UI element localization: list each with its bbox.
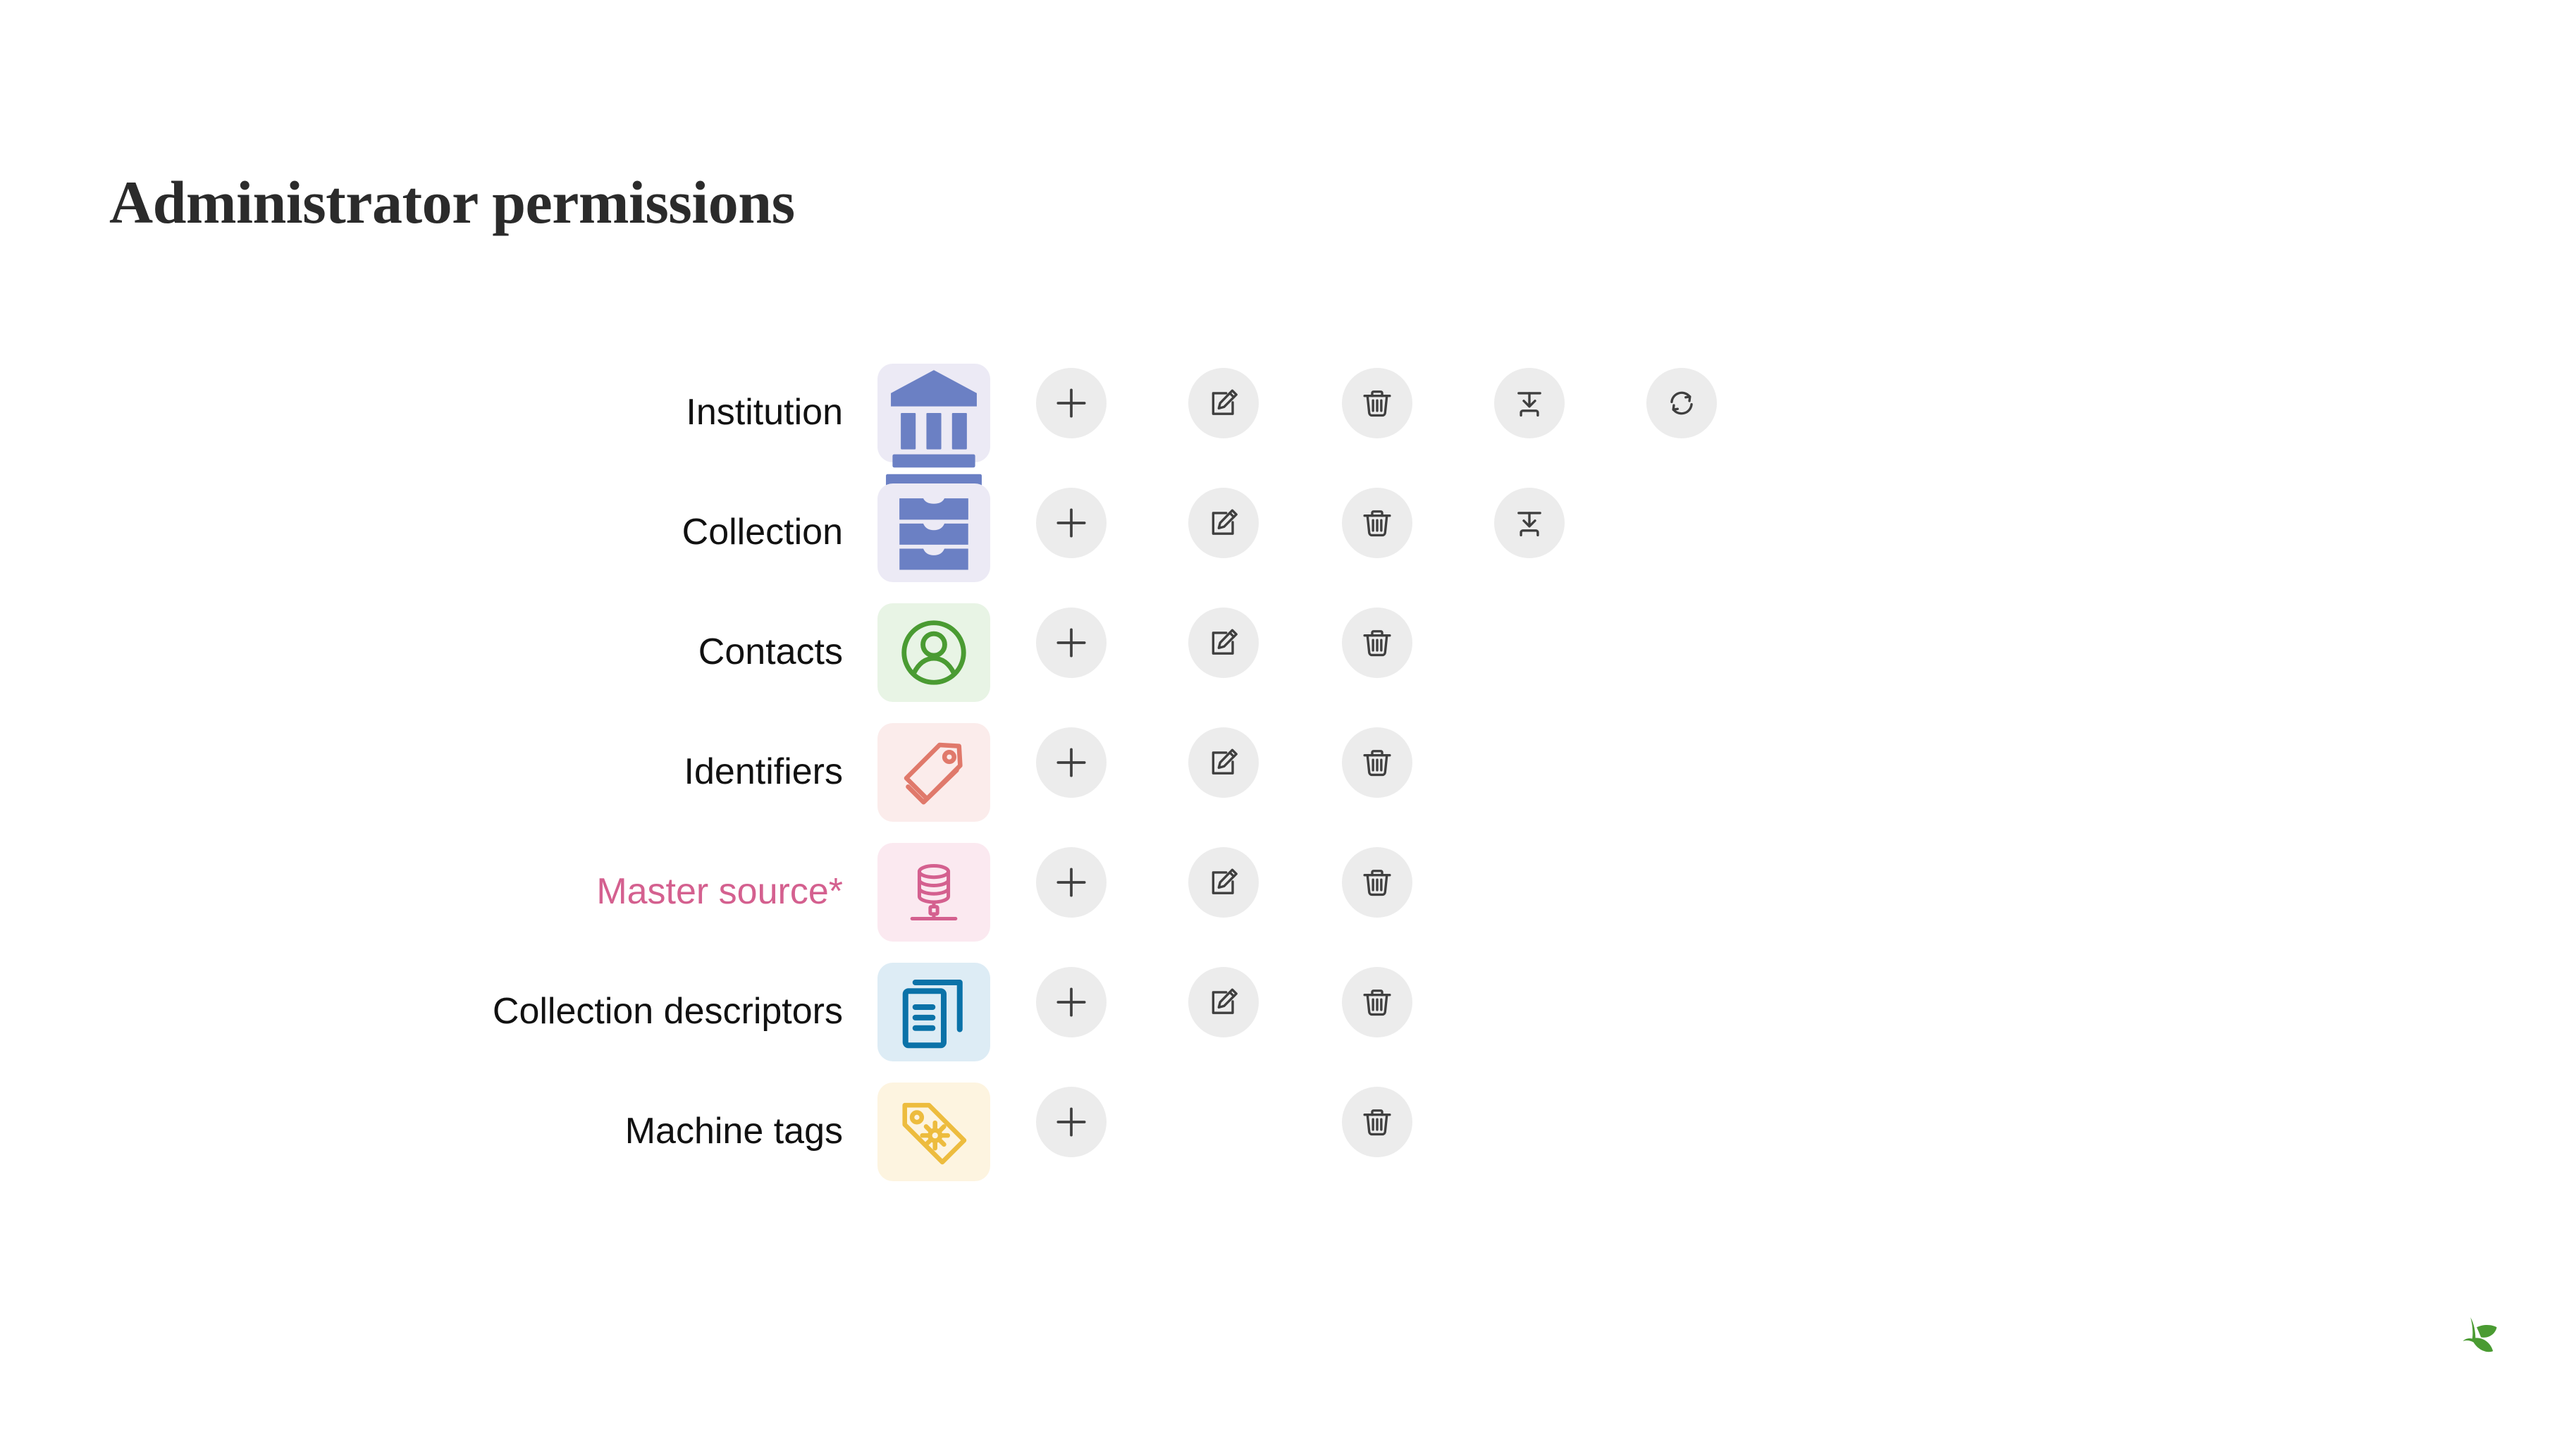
permission-row: Collection descriptors: [0, 951, 2576, 1071]
row-label: Identifiers: [684, 712, 843, 832]
page-title: Administrator permissions: [109, 172, 795, 233]
edit-button[interactable]: [1188, 967, 1259, 1037]
sync-icon: [1663, 385, 1700, 421]
import-icon: [1511, 505, 1548, 541]
add-button[interactable]: [1036, 967, 1107, 1037]
plus-icon: [1052, 623, 1091, 662]
delete-button[interactable]: [1342, 967, 1412, 1037]
contact-person-icon: [877, 603, 990, 702]
edit-button[interactable]: [1188, 847, 1259, 918]
add-button[interactable]: [1036, 368, 1107, 438]
edit-icon: [1205, 744, 1242, 781]
delete-button[interactable]: [1342, 608, 1412, 678]
gbif-leaf-logo: [2451, 1312, 2515, 1369]
permission-row: Master source*: [0, 832, 2576, 951]
trash-icon: [1359, 984, 1395, 1021]
permission-row: Machine tags: [0, 1071, 2576, 1191]
edit-icon: [1205, 385, 1242, 421]
documents-icon: [877, 963, 990, 1061]
plus-icon: [1052, 503, 1091, 543]
edit-button[interactable]: [1188, 368, 1259, 438]
permission-row: Contacts: [0, 592, 2576, 712]
edit-icon: [1205, 864, 1242, 901]
import-icon: [1511, 385, 1548, 421]
delete-button[interactable]: [1342, 368, 1412, 438]
trash-icon: [1359, 1104, 1395, 1140]
row-label: Master source*: [596, 832, 843, 951]
trash-icon: [1359, 505, 1395, 541]
edit-icon: [1205, 984, 1242, 1021]
trash-icon: [1359, 385, 1395, 421]
plus-icon: [1052, 743, 1091, 782]
edit-button[interactable]: [1188, 608, 1259, 678]
plus-icon: [1052, 863, 1091, 902]
plus-icon: [1052, 1102, 1091, 1142]
row-label: Collection: [682, 472, 843, 592]
permission-row: Institution: [0, 352, 2576, 472]
row-label: Collection descriptors: [493, 951, 843, 1071]
row-label: Machine tags: [625, 1071, 843, 1191]
edit-button[interactable]: [1188, 727, 1259, 798]
add-button[interactable]: [1036, 1087, 1107, 1157]
delete-button[interactable]: [1342, 488, 1412, 558]
add-button[interactable]: [1036, 847, 1107, 918]
add-button[interactable]: [1036, 488, 1107, 558]
add-button[interactable]: [1036, 608, 1107, 678]
plus-icon: [1052, 383, 1091, 423]
delete-button[interactable]: [1342, 1087, 1412, 1157]
sync-button[interactable]: [1646, 368, 1717, 438]
permission-row: Identifiers: [0, 712, 2576, 832]
institution-icon: [877, 364, 990, 462]
edit-icon: [1205, 505, 1242, 541]
trash-icon: [1359, 744, 1395, 781]
plus-icon: [1052, 982, 1091, 1022]
trash-icon: [1359, 624, 1395, 661]
edit-icon: [1205, 624, 1242, 661]
import-button[interactable]: [1494, 368, 1565, 438]
permissions-grid: InstitutionCollectionContactsIdentifiers…: [0, 352, 2576, 1191]
tag-icon: [877, 723, 990, 822]
collection-drawers-icon: [877, 483, 990, 582]
row-label: Contacts: [698, 592, 843, 712]
machine-tag-icon: [877, 1083, 990, 1181]
permission-row: Collection: [0, 472, 2576, 592]
delete-button[interactable]: [1342, 847, 1412, 918]
import-button[interactable]: [1494, 488, 1565, 558]
trash-icon: [1359, 864, 1395, 901]
delete-button[interactable]: [1342, 727, 1412, 798]
row-label: Institution: [686, 352, 843, 472]
edit-button[interactable]: [1188, 488, 1259, 558]
add-button[interactable]: [1036, 727, 1107, 798]
database-icon: [877, 843, 990, 942]
